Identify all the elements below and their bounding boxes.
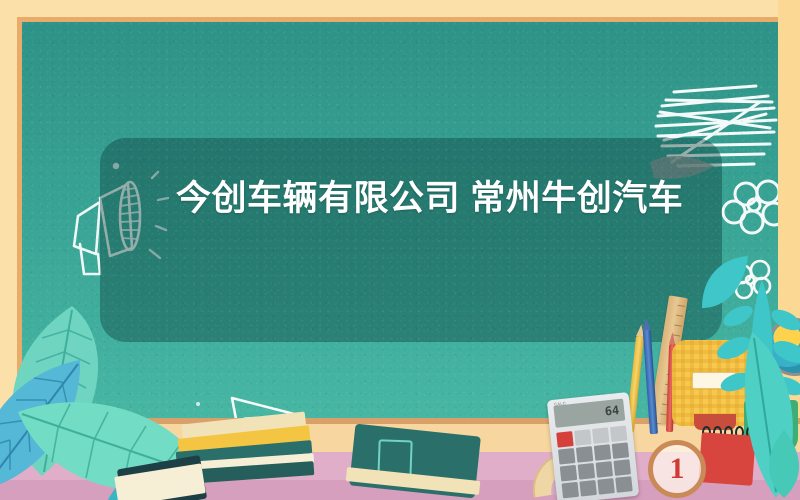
calculator-key[interactable] [594, 444, 611, 460]
banner-stage: 今创车辆有限公司 常州牛创汽车 [0, 0, 800, 500]
calculator-key[interactable] [558, 448, 575, 464]
calculator-key[interactable] [578, 463, 595, 479]
leaf-small-right [696, 252, 752, 312]
calculator-key[interactable] [556, 431, 573, 447]
calculator-key[interactable] [560, 465, 577, 481]
calculator-key[interactable] [592, 427, 609, 443]
calculator-key[interactable] [616, 477, 633, 493]
headline-panel [100, 138, 722, 342]
calculator-key[interactable] [612, 442, 629, 458]
calculator-key[interactable] [562, 482, 579, 498]
pencil-tip [669, 332, 675, 344]
page-title: 今创车辆有限公司 常州牛创汽车 [176, 176, 696, 222]
calculator-key[interactable] [576, 446, 593, 462]
calculator-key[interactable] [596, 461, 613, 477]
magnifier-digit: 1 [670, 452, 685, 486]
calculator-keypad[interactable] [556, 425, 633, 498]
calculator-key[interactable] [598, 478, 615, 494]
calculator[interactable]: CALC 64 [547, 392, 639, 500]
calculator-key[interactable] [614, 460, 631, 476]
leaf-bottom-right [760, 428, 800, 500]
calculator-key[interactable] [580, 480, 597, 496]
pencil-tip [642, 318, 651, 331]
frame-highlight-top [0, 0, 800, 17]
calculator-key[interactable] [610, 425, 627, 441]
calculator-key[interactable] [574, 429, 591, 445]
magnifying-glass: 1 [648, 440, 706, 498]
